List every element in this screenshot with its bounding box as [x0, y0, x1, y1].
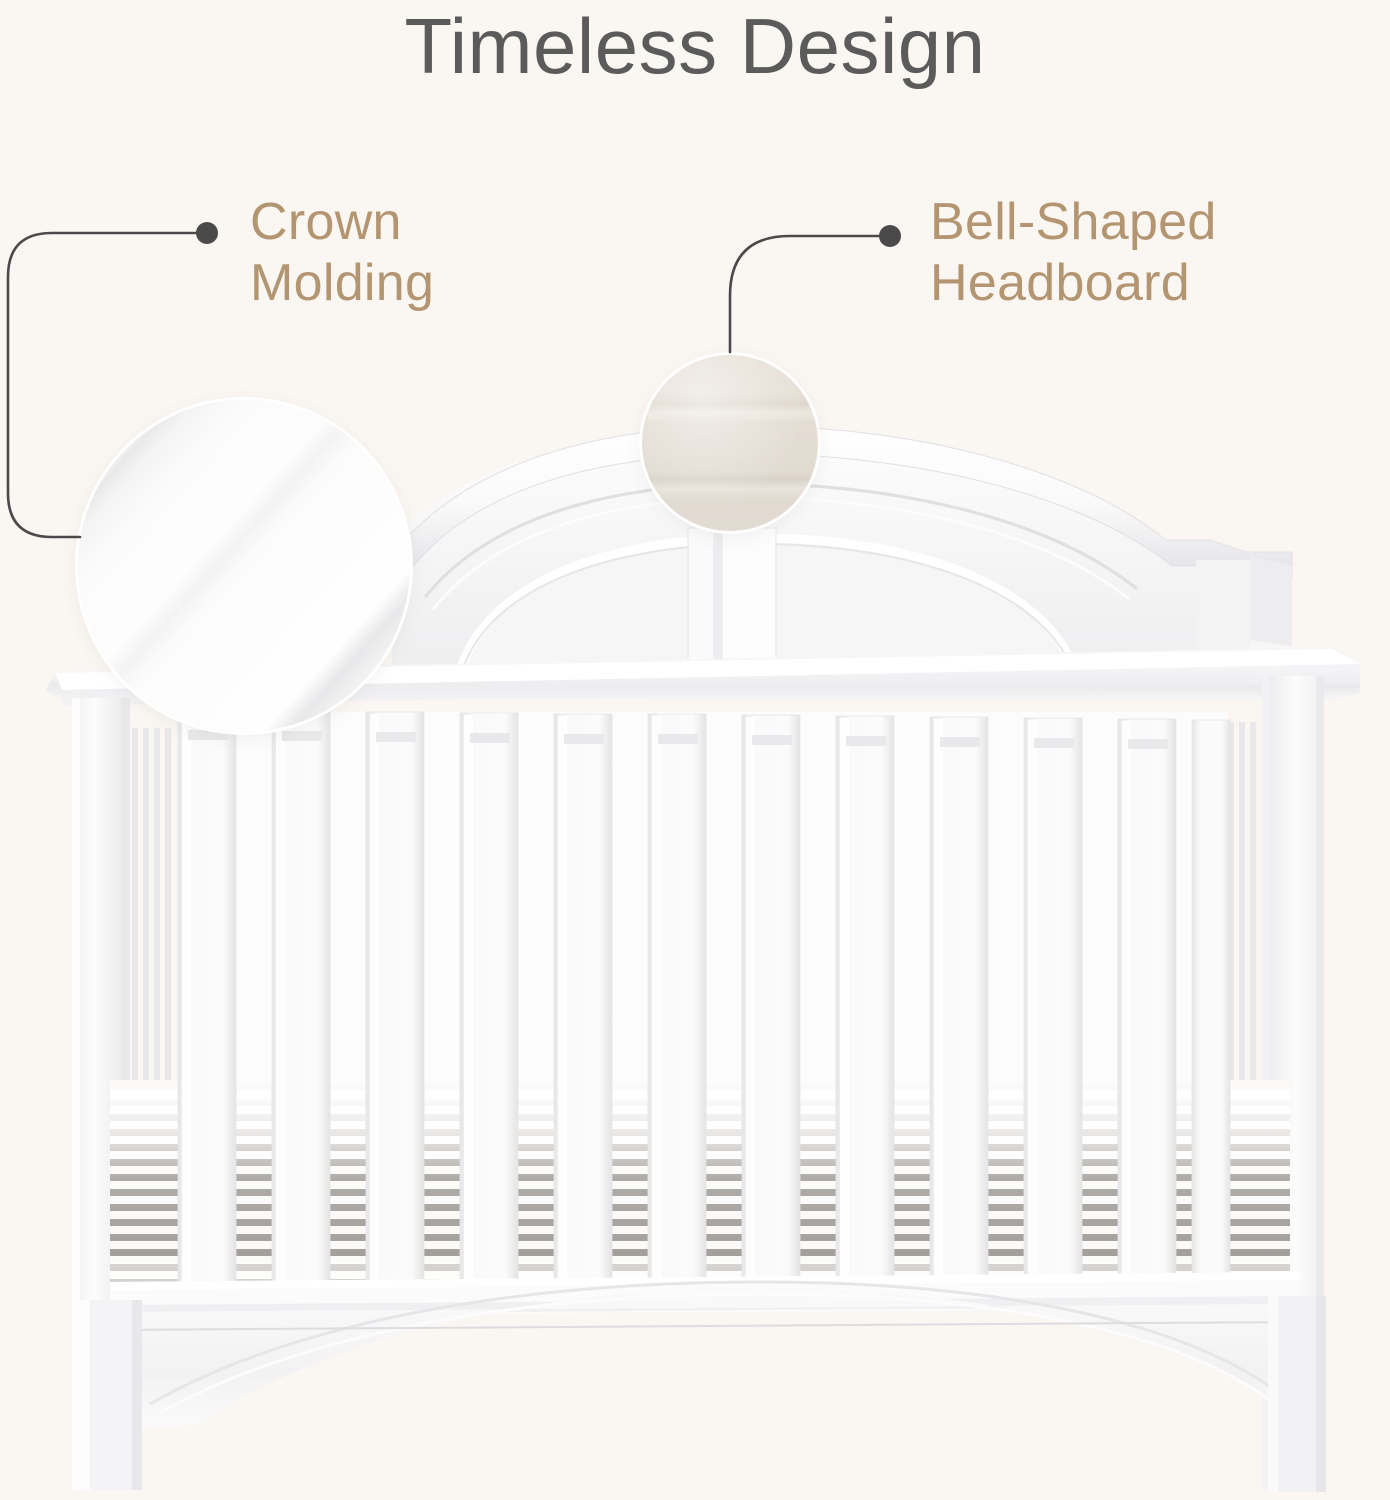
magnifier-crown-molding	[78, 400, 410, 732]
magnifier-bell-headboard	[642, 355, 818, 531]
base-skirt	[80, 1282, 1326, 1492]
callout-label-bell-shaped-headboard: Bell-Shaped Headboard	[930, 192, 1217, 315]
infographic-canvas: Timeless Design Crown Molding Bell-Shape…	[0, 0, 1390, 1500]
callout-label-crown-molding: Crown Molding	[250, 192, 434, 315]
headboard-zoom-image	[642, 355, 818, 531]
crown-molding-zoom-image	[78, 400, 410, 732]
page-title: Timeless Design	[0, 6, 1390, 88]
